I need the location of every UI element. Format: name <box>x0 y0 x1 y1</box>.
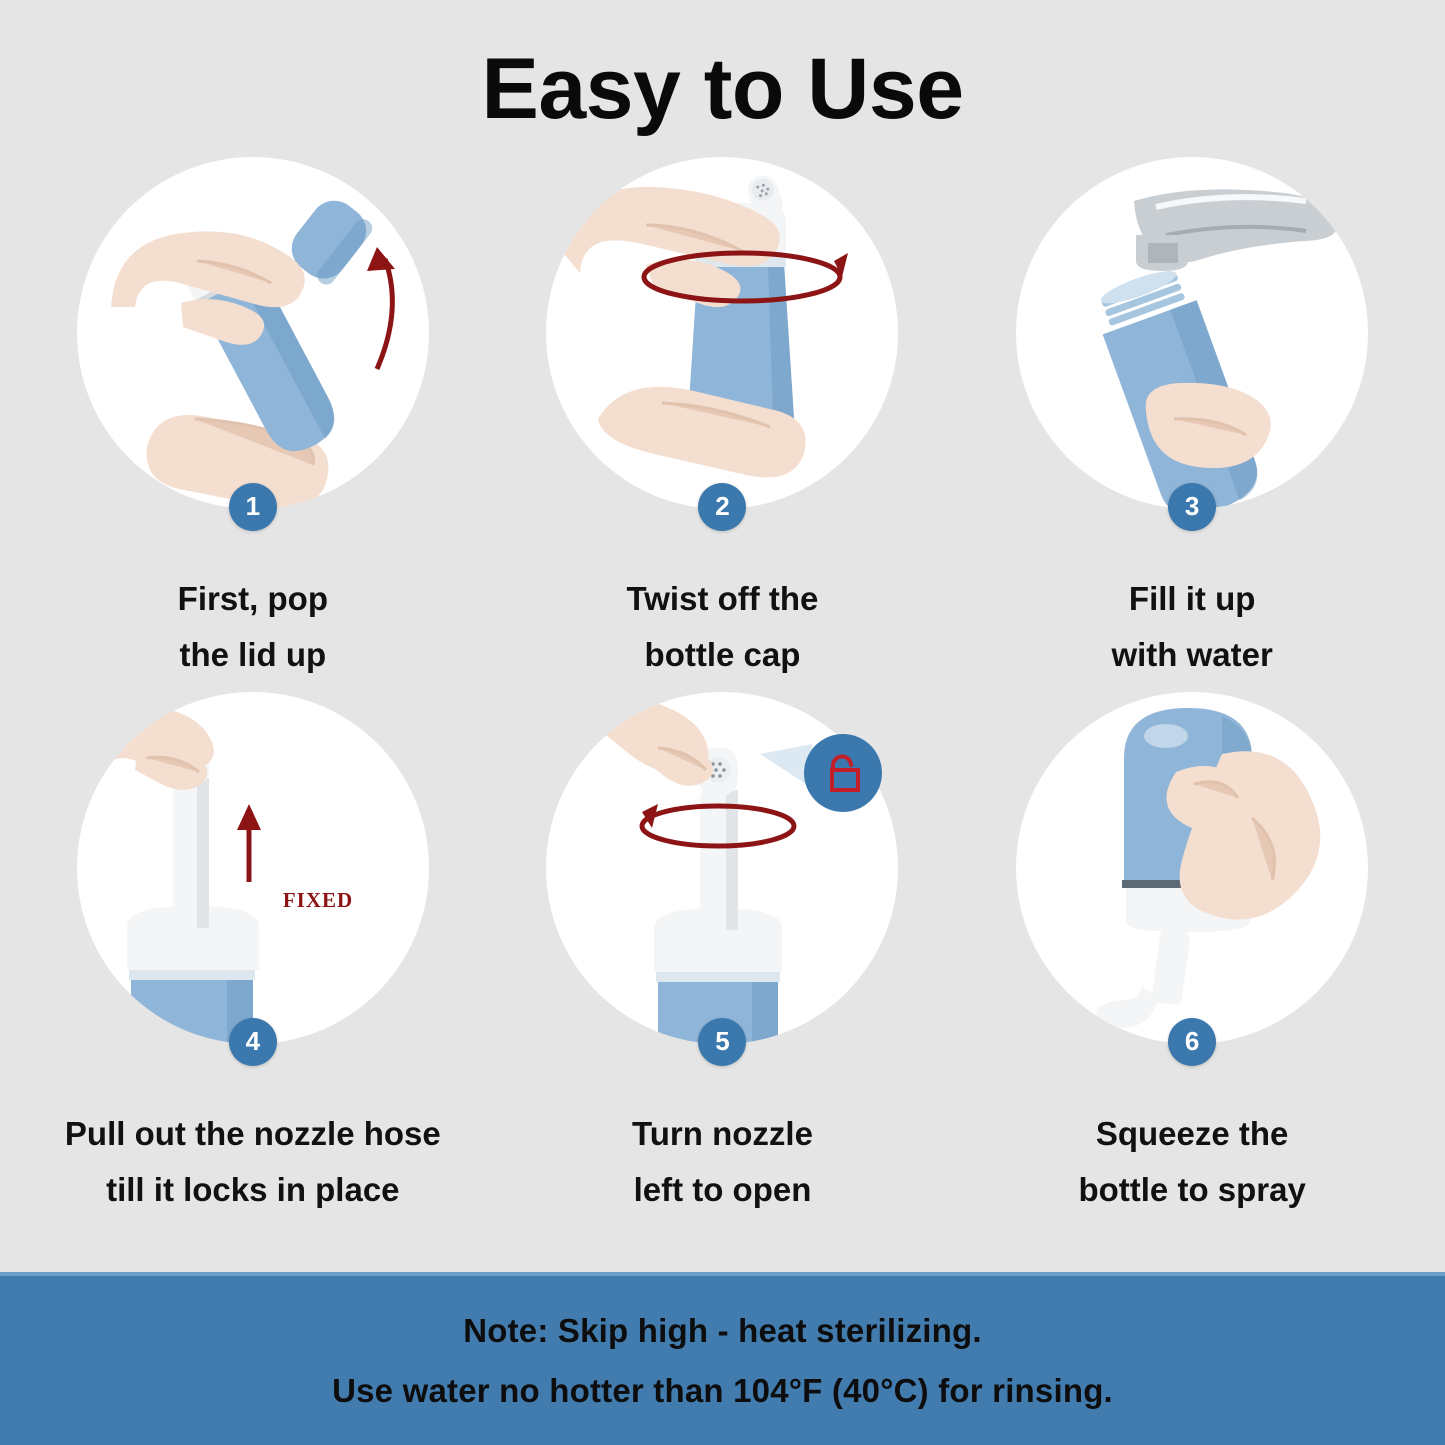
lock-callout <box>804 734 882 812</box>
note-banner: Note: Skip high - heat sterilizing. Use … <box>0 1272 1445 1445</box>
hands-popping-lid-icon <box>77 157 429 509</box>
step-3-caption: Fill it up with water <box>1111 571 1272 683</box>
step-2-caption: Twist off the bottle cap <box>627 571 819 683</box>
step-2-image: 2 <box>546 157 898 509</box>
step-6-badge: 6 <box>1168 1018 1216 1066</box>
step-1-caption-line2: the lid up <box>178 627 328 683</box>
step-3-caption-line2: with water <box>1111 627 1272 683</box>
step-3-badge: 3 <box>1168 483 1216 531</box>
step-3-image: 3 <box>1016 157 1368 509</box>
hand-pulling-nozzle-icon <box>77 692 429 1044</box>
step-1-image: 1 <box>77 157 429 509</box>
step-6-caption: Squeeze the bottle to spray <box>1078 1106 1305 1218</box>
note-line-1: Note: Skip high - heat sterilizing. <box>463 1312 982 1350</box>
step-5: 5 Turn nozzle left to open <box>488 692 958 1227</box>
step-2-caption-line2: bottle cap <box>627 627 819 683</box>
step-4-badge: 4 <box>229 1018 277 1066</box>
page-title: Easy to Use <box>0 0 1445 137</box>
step-3: 3 Fill it up with water <box>957 157 1427 692</box>
hand-squeezing-bottle-icon <box>1016 692 1368 1044</box>
steps-grid: 1 First, pop the lid up <box>0 137 1445 1227</box>
step-5-badge: 5 <box>698 1018 746 1066</box>
step-4-caption-line2: till it locks in place <box>65 1162 441 1218</box>
step-4-caption: Pull out the nozzle hose till it locks i… <box>65 1106 441 1218</box>
step-6-image: 6 <box>1016 692 1368 1044</box>
step-5-caption-line2: left to open <box>632 1162 813 1218</box>
step-5-caption: Turn nozzle left to open <box>632 1106 813 1218</box>
note-line-2: Use water no hotter than 104°F (40°C) fo… <box>332 1372 1113 1410</box>
step-4-caption-line1: Pull out the nozzle hose <box>65 1106 441 1162</box>
step-5-image: 5 <box>546 692 898 1044</box>
step-1-badge: 1 <box>229 483 277 531</box>
step-6-caption-line1: Squeeze the <box>1078 1106 1305 1162</box>
step-1-caption: First, pop the lid up <box>178 571 328 683</box>
step-5-caption-line1: Turn nozzle <box>632 1106 813 1162</box>
faucet-filling-bottle-icon <box>1016 157 1368 509</box>
hands-twisting-cap-icon <box>546 157 898 509</box>
fixed-annotation: FIXED <box>283 888 353 913</box>
step-2-badge: 2 <box>698 483 746 531</box>
step-1-caption-line1: First, pop <box>178 571 328 627</box>
step-2-caption-line1: Twist off the <box>627 571 819 627</box>
step-4-image: FIXED 4 <box>77 692 429 1044</box>
step-1: 1 First, pop the lid up <box>18 157 488 692</box>
step-6: 6 Squeeze the bottle to spray <box>957 692 1427 1227</box>
step-2: 2 Twist off the bottle cap <box>488 157 958 692</box>
step-6-caption-line2: bottle to spray <box>1078 1162 1305 1218</box>
step-4: FIXED 4 Pull out the nozzle hose till it… <box>18 692 488 1227</box>
step-3-caption-line1: Fill it up <box>1111 571 1272 627</box>
open-padlock-icon <box>820 750 866 796</box>
